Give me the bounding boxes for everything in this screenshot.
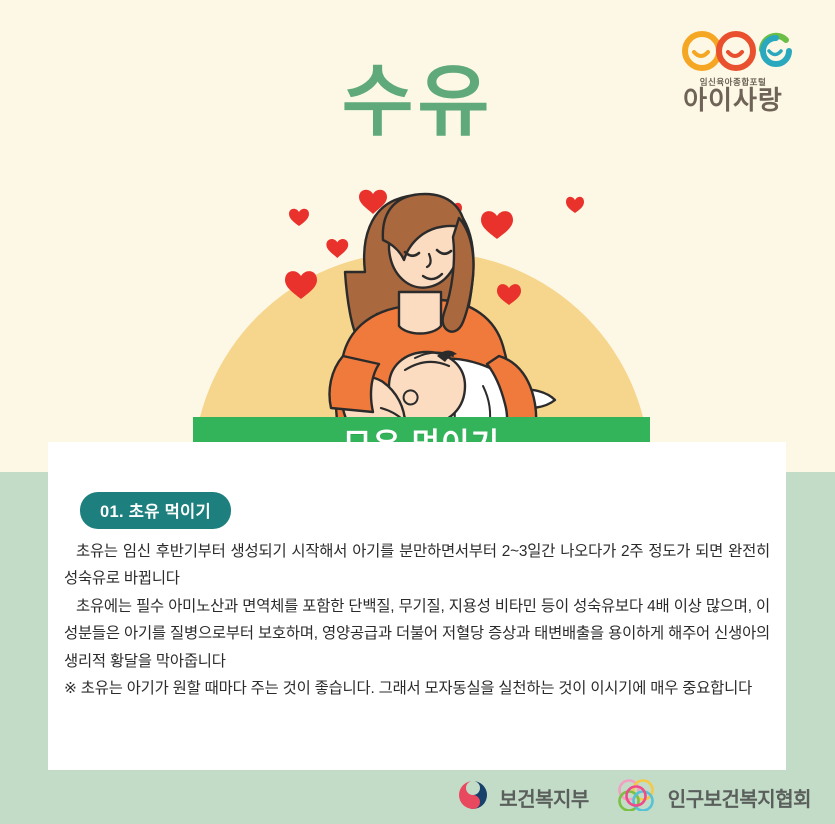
- overlapping-circles-icon: [615, 779, 659, 816]
- footer: 보건복지부 인구보건복지협회: [0, 770, 835, 824]
- section-body: 초유는 임신 후반기부터 생성되기 시작해서 아기를 분만하면서부터 2~3일간…: [64, 538, 770, 703]
- section-badge: 01. 초유 먹이기: [80, 492, 231, 529]
- footer-org-mohw: 보건복지부: [456, 778, 589, 817]
- footer-org-name: 인구보건복지협회: [668, 783, 811, 812]
- logo-title: 아이사랑: [653, 87, 813, 114]
- paragraph-2: 초유에는 필수 아미노산과 면역체를 포함한 단백질, 무기질, 지용성 비타민…: [64, 593, 770, 675]
- footer-org-name: 보건복지부: [499, 783, 589, 812]
- brand-logo: 임신육아종합포털 아이사랑: [653, 28, 813, 118]
- infographic-poster: 수유 임신육아종합포털 아이사랑: [0, 0, 835, 824]
- logo-rings-icon: [674, 28, 792, 74]
- taegeuk-icon: [456, 778, 490, 817]
- footer-org-ppfk: 인구보건복지협회: [615, 779, 811, 816]
- content-card: 01. 초유 먹이기 초유는 임신 후반기부터 생성되기 시작해서 아기를 분만…: [48, 442, 786, 770]
- paragraph-1: 초유는 임신 후반기부터 생성되기 시작해서 아기를 분만하면서부터 2~3일간…: [64, 538, 770, 593]
- paragraph-3: ※ 초유는 아기가 원할 때마다 주는 것이 좋습니다. 그래서 모자동실을 실…: [64, 675, 770, 702]
